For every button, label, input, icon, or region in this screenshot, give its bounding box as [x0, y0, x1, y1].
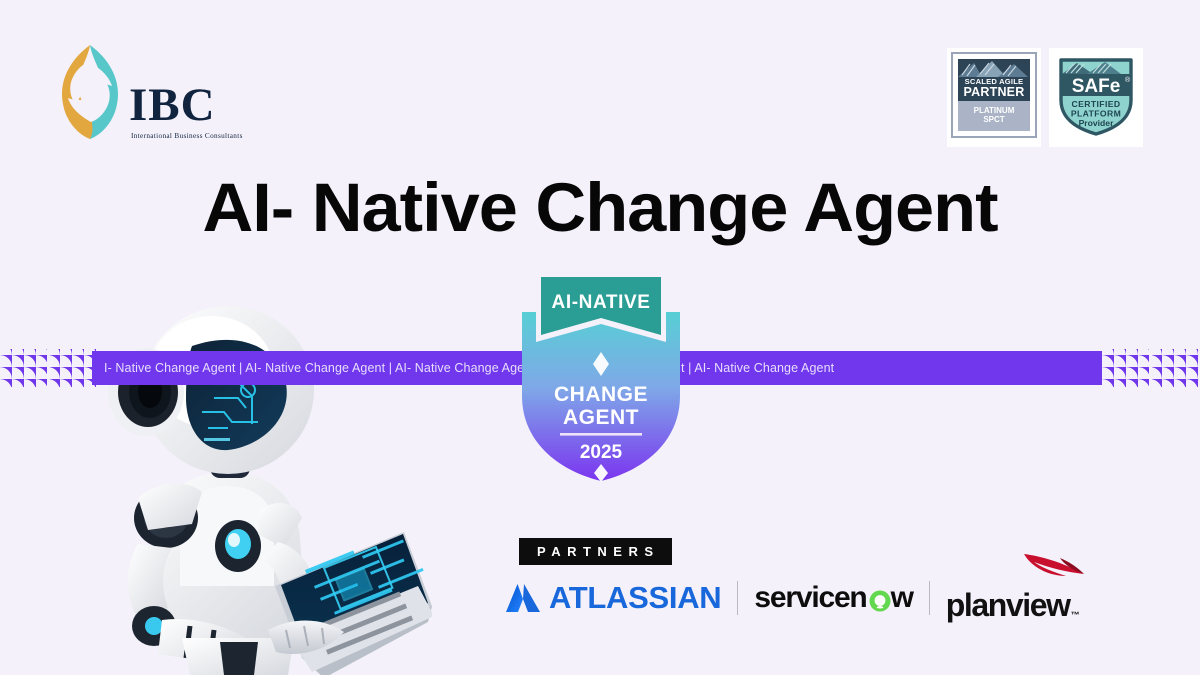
safe-shield-icon: SAFe ® CERTIFIED PLATFORM Provider: [1053, 52, 1139, 138]
partner-logo-atlassian[interactable]: ATLASSIAN: [505, 572, 721, 624]
safe-registered-mark: ®: [1125, 76, 1131, 84]
partners-label: PARTNERS: [519, 538, 672, 565]
ibc-wordmark: IBC: [129, 84, 243, 127]
partner-divider-1: [737, 581, 738, 615]
award-banner-text: AI-NATIVE: [552, 292, 651, 313]
planview-trademark: ™: [1071, 610, 1080, 620]
pattern-tiles-left-icon: [0, 343, 98, 393]
servicenow-text-part2: w: [891, 581, 913, 615]
award-line2: AGENT: [563, 406, 639, 429]
scaled-agile-partner-badge: SCALED AGILE PARTNER PLATINUM SPCT: [947, 48, 1041, 147]
ibc-logo-icon: [55, 42, 125, 142]
award-badge: AI-NATIVE CHANGE AGENT 2025: [516, 268, 686, 485]
scaled-agile-level-line2: SPCT: [983, 116, 1004, 124]
planview-red-swoosh-icon: [1020, 550, 1086, 582]
servicenow-text-part1: servicen: [754, 581, 866, 615]
pattern-tiles-right-icon: [1102, 343, 1200, 393]
partner-logo-planview[interactable]: planview ™: [946, 572, 1080, 624]
atlassian-chevron-icon: [505, 581, 541, 615]
partners-logos: ATLASSIAN servicen w: [505, 572, 1130, 624]
scaled-agile-partner-text: SCALED AGILE PARTNER: [958, 77, 1030, 99]
planview-wordmark: planview: [946, 587, 1070, 624]
safe-line2: PLATFORM: [1071, 109, 1121, 119]
safe-certified-badge: SAFe ® CERTIFIED PLATFORM Provider: [1049, 48, 1143, 147]
ibc-wordmark-group: IBC International Business Consultants: [129, 84, 243, 140]
scaled-agile-level: PLATINUM SPCT: [958, 101, 1030, 131]
poster-canvas: IBC International Business Consultants: [0, 0, 1200, 675]
ibc-tagline: International Business Consultants: [131, 132, 243, 140]
certification-badges: SCALED AGILE PARTNER PLATINUM SPCT: [947, 48, 1143, 147]
safe-line3: Provider: [1079, 118, 1115, 128]
partner-divider-2: [929, 581, 930, 615]
award-line1: CHANGE: [554, 383, 648, 406]
page-title: AI- Native Change Agent: [0, 168, 1200, 247]
partner-logo-servicenow[interactable]: servicen w: [754, 572, 912, 624]
ibc-logo: IBC International Business Consultants: [55, 42, 235, 147]
robot-illustration: [62, 286, 432, 675]
award-year: 2025: [580, 442, 623, 463]
servicenow-green-o-icon: [868, 587, 890, 609]
marquee-text: I- Native Change Agent | AI- Native Chan…: [92, 361, 834, 375]
safe-line1: CERTIFIED: [1072, 99, 1121, 109]
servicenow-wordmark: servicen w: [754, 581, 912, 615]
safe-wordmark: SAFe: [1072, 76, 1121, 97]
atlassian-wordmark: ATLASSIAN: [549, 580, 721, 616]
scaled-agile-line2: PARTNER: [958, 86, 1030, 99]
mountain-peaks-icon: [958, 59, 1028, 77]
award-divider: [560, 433, 642, 436]
